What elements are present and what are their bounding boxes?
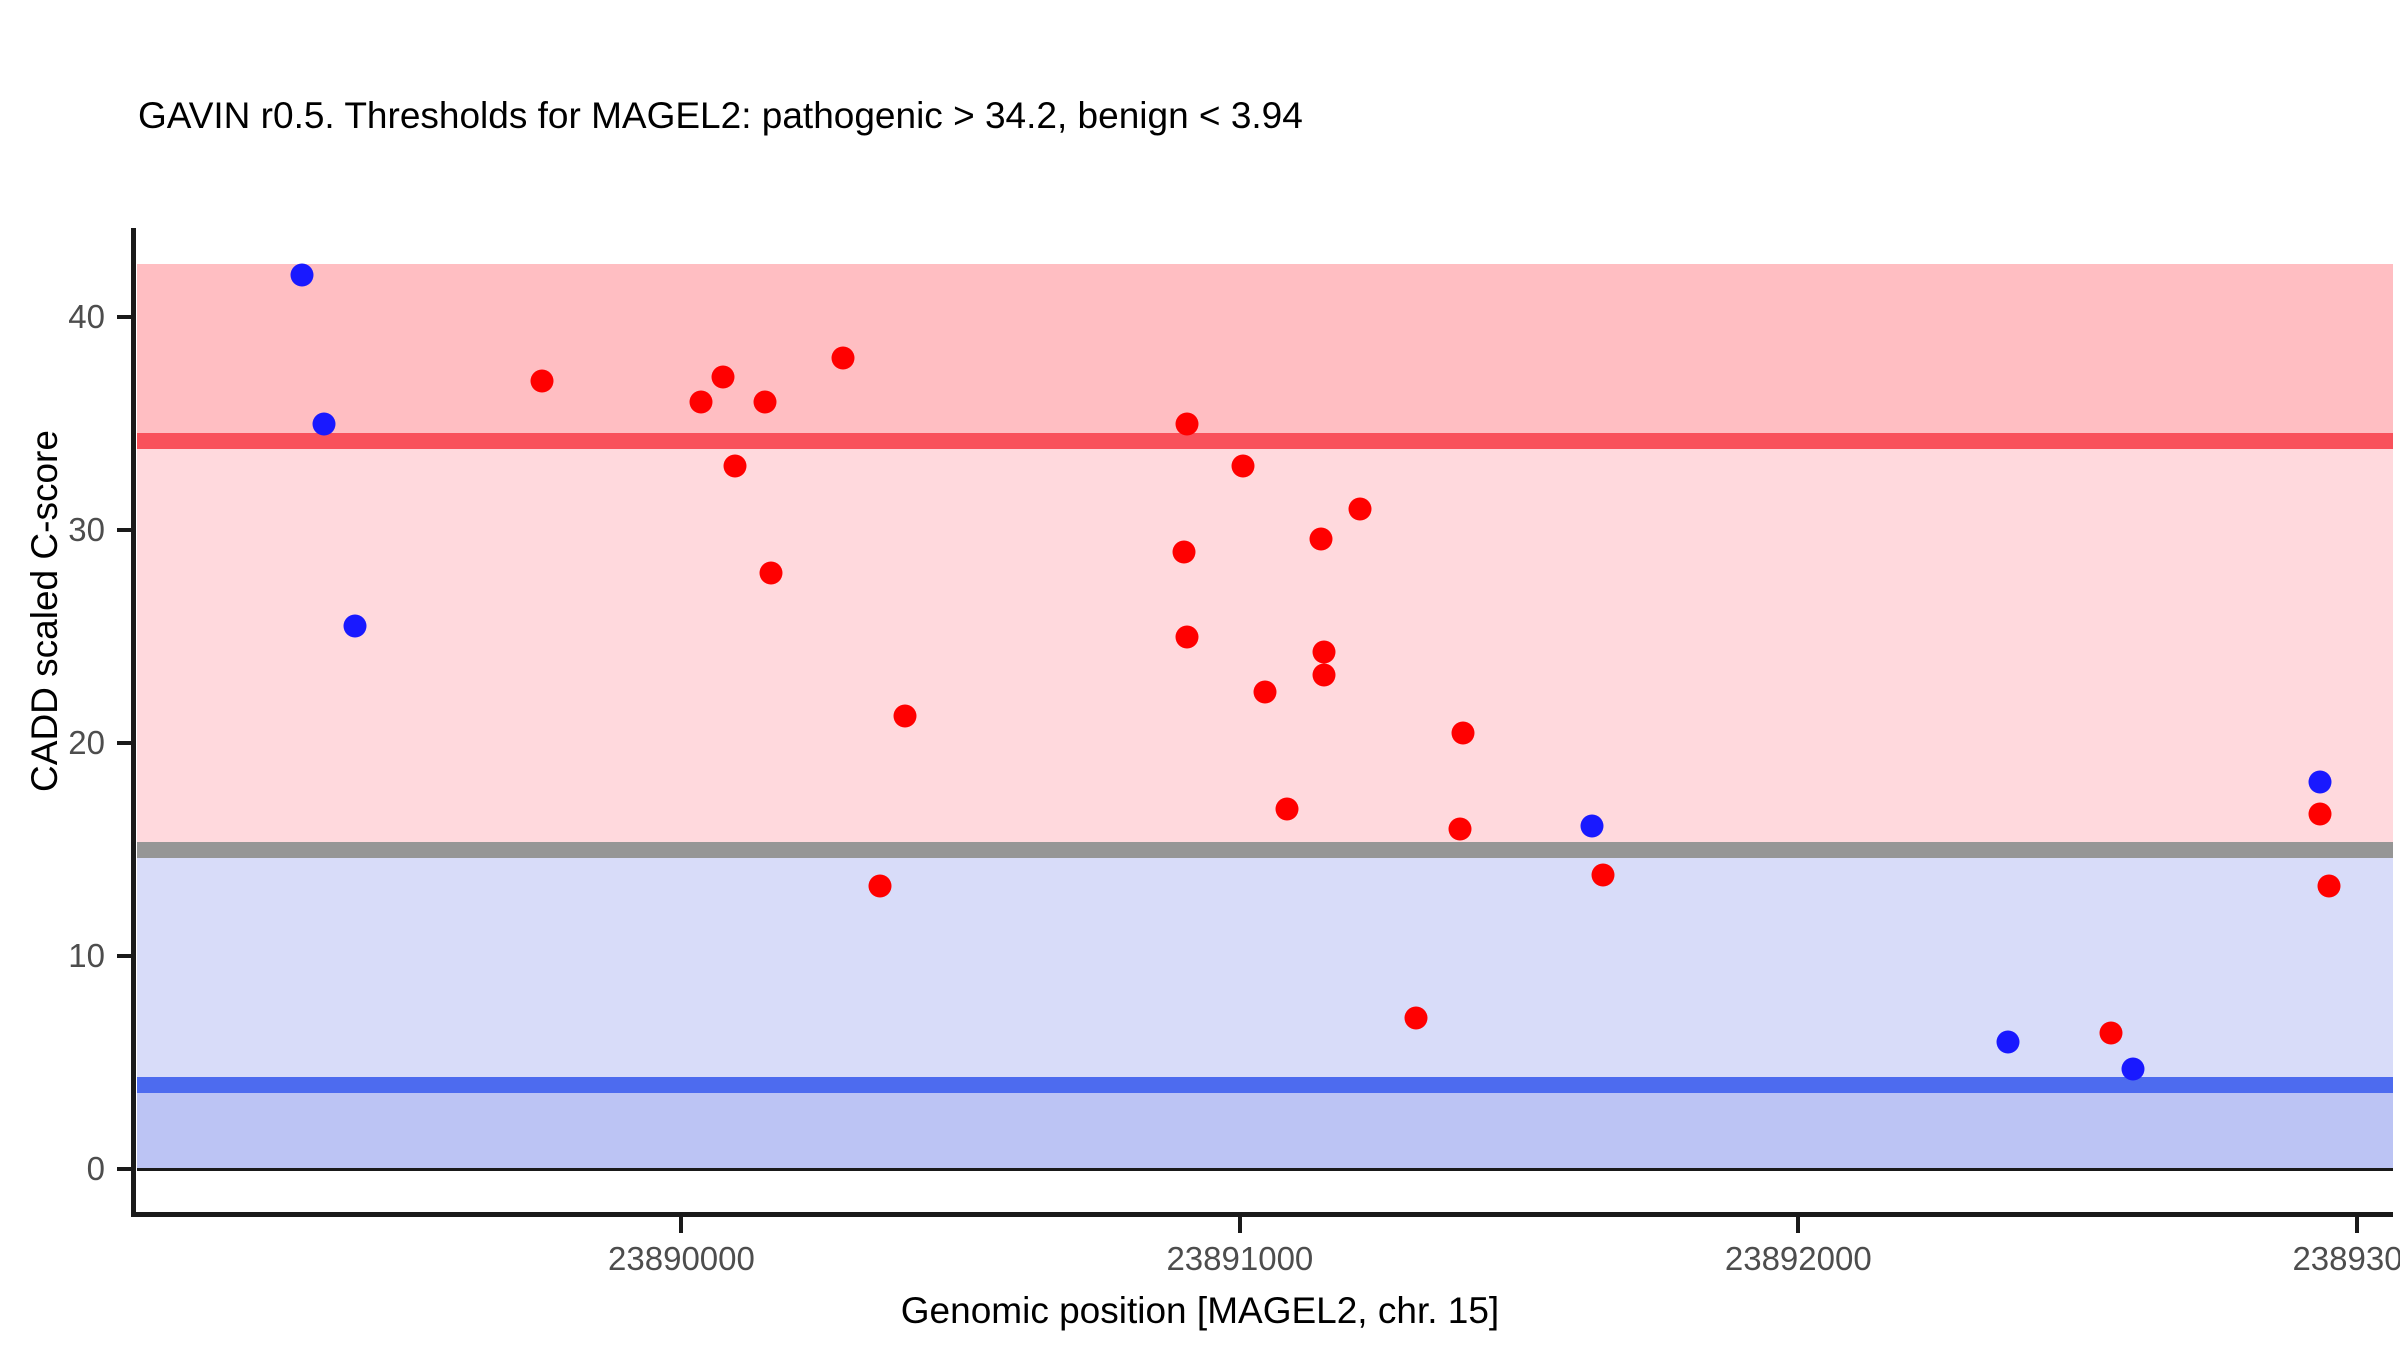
data-point bbox=[1312, 640, 1335, 663]
data-point bbox=[1580, 815, 1603, 838]
data-point bbox=[712, 365, 735, 388]
chart-root: GAVIN r0.5. Thresholds for MAGEL2: patho… bbox=[0, 0, 2400, 1350]
y-axis-tick-label: 0 bbox=[25, 1150, 105, 1188]
y-axis-tick bbox=[117, 528, 133, 532]
data-point bbox=[1452, 721, 1475, 744]
data-point bbox=[1996, 1030, 2019, 1053]
y-axis-line bbox=[131, 228, 136, 1216]
data-point bbox=[2100, 1022, 2123, 1045]
data-point bbox=[1348, 497, 1371, 520]
y-axis-tick-label: 40 bbox=[25, 298, 105, 336]
x-axis-tick-label: 23891000 bbox=[1166, 1240, 1313, 1278]
data-point bbox=[1309, 527, 1332, 550]
data-point bbox=[290, 263, 313, 286]
y-axis-tick-label: 30 bbox=[25, 511, 105, 549]
data-point bbox=[2309, 802, 2332, 825]
data-point bbox=[690, 391, 713, 414]
benign-threshold-line bbox=[137, 1077, 2393, 1093]
title-line-1: GAVIN r0.5. Thresholds for MAGEL2: patho… bbox=[138, 94, 2238, 138]
x-axis-line bbox=[131, 1212, 2393, 1217]
band-intermediate bbox=[137, 441, 2393, 850]
y-axis-tick bbox=[117, 315, 133, 319]
data-point bbox=[1449, 817, 1472, 840]
data-point bbox=[2317, 875, 2340, 898]
data-point bbox=[2122, 1058, 2145, 1081]
data-point bbox=[1254, 681, 1277, 704]
band-below-fallback bbox=[137, 850, 2393, 1086]
data-point bbox=[313, 412, 336, 435]
data-point bbox=[1173, 540, 1196, 563]
data-point bbox=[530, 370, 553, 393]
band-pathogenic bbox=[137, 264, 2393, 441]
data-point bbox=[1404, 1007, 1427, 1030]
data-point bbox=[2309, 770, 2332, 793]
data-point bbox=[759, 561, 782, 584]
band-benign bbox=[137, 1085, 2393, 1169]
x-axis-tick bbox=[679, 1217, 683, 1233]
data-point bbox=[1175, 625, 1198, 648]
data-point bbox=[893, 704, 916, 727]
fallback-threshold-line bbox=[137, 842, 2393, 858]
data-point bbox=[723, 455, 746, 478]
data-point bbox=[868, 875, 891, 898]
y-axis-tick-label: 20 bbox=[25, 724, 105, 762]
data-point bbox=[1231, 455, 1254, 478]
x-axis-label: Genomic position [MAGEL2, chr. 15] bbox=[0, 1290, 2400, 1332]
data-point bbox=[1276, 798, 1299, 821]
y-axis-tick bbox=[117, 741, 133, 745]
data-point bbox=[754, 391, 777, 414]
x-axis-tick bbox=[2355, 1217, 2359, 1233]
x-axis-tick bbox=[1238, 1217, 1242, 1233]
y-axis-tick-label: 10 bbox=[25, 937, 105, 975]
data-point bbox=[343, 615, 366, 638]
data-point bbox=[832, 346, 855, 369]
data-point bbox=[1312, 664, 1335, 687]
x-axis-tick bbox=[1796, 1217, 1800, 1233]
data-point bbox=[1175, 412, 1198, 435]
y-axis-tick bbox=[117, 1167, 133, 1171]
x-axis-tick-label: 23890000 bbox=[608, 1240, 755, 1278]
y-axis-tick bbox=[117, 954, 133, 958]
pathogenic-threshold-line bbox=[137, 433, 2393, 449]
data-point bbox=[1591, 864, 1614, 887]
x-axis-tick-label: 23892000 bbox=[1725, 1240, 1872, 1278]
y-axis-label: CADD scaled C-score bbox=[24, 261, 66, 961]
x-axis-tick-label: 2389300 bbox=[2292, 1240, 2400, 1278]
plot-panel bbox=[137, 232, 2393, 1212]
zero-baseline bbox=[137, 1168, 2393, 1171]
